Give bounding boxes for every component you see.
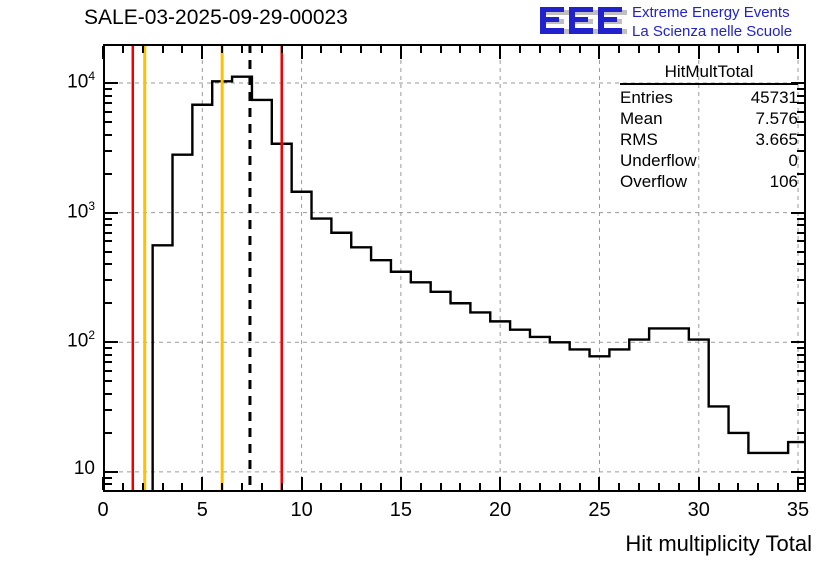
stats-rows: Entries45731Mean7.576RMS3.665Underflow0O… [616,87,802,192]
x-minor-tick [459,483,461,490]
y-major-tick [105,212,118,214]
x-minor-tick [777,483,779,490]
y-minor-tick-right [797,251,804,253]
page-title: SALE-03-2025-09-29-00023 [84,6,348,30]
x-minor-tick-top [737,46,739,53]
y-minor-tick [105,224,112,226]
x-minor-tick [559,483,561,490]
y-minor-tick-right [797,232,804,234]
x-axis-tick-label: 0 [73,499,133,522]
x-minor-tick [718,483,720,490]
y-minor-tick-right [797,432,804,434]
x-minor-tick-top [221,46,223,53]
y-minor-tick-right [797,380,804,382]
x-minor-tick [281,483,283,490]
logo-text: Extreme Energy Events La Scienza nelle S… [632,3,792,41]
x-minor-tick [440,483,442,490]
x-axis-tick-label: 35 [768,499,828,522]
x-minor-tick-top [181,46,183,53]
y-minor-tick [105,102,112,104]
y-minor-tick-right [797,361,804,363]
stats-key: RMS [620,129,658,150]
stats-row: Underflow0 [616,150,802,171]
y-minor-tick [105,150,112,152]
x-minor-tick [737,483,739,490]
x-minor-tick-top [559,46,561,53]
x-major-tick [698,477,700,490]
y-minor-tick-right [797,224,804,226]
y-axis-tick-label: 10 [33,458,95,480]
x-minor-tick-top [241,46,243,53]
x-minor-tick [678,483,680,490]
y-minor-tick [105,251,112,253]
x-minor-tick-top [618,46,620,53]
stats-row: RMS3.665 [616,129,802,150]
y-minor-tick [105,88,112,90]
y-major-tick-right [791,341,804,343]
x-minor-tick-top [261,46,263,53]
x-minor-tick-top [757,46,759,53]
x-major-tick [201,477,203,490]
x-minor-tick [420,483,422,490]
x-minor-tick [658,483,660,490]
x-major-tick [301,477,303,490]
y-major-tick [105,471,118,473]
x-minor-tick-top [360,46,362,53]
x-major-tick-top [797,46,799,59]
y-minor-tick [105,477,112,479]
y-minor-tick [105,354,112,356]
y-major-tick-right [791,471,804,473]
stats-value: 3.665 [755,129,798,150]
y-minor-tick-right [797,302,804,304]
x-minor-tick-top [281,46,283,53]
x-minor-tick-top [420,46,422,53]
x-minor-tick-top [380,46,382,53]
x-minor-tick [241,483,243,490]
histogram-canvas: SALE-03-2025-09-29-00023 [0,0,836,572]
x-major-tick [499,477,501,490]
logo-line-2: La Scienza nelle Scuole [632,22,792,41]
logo-line-1: Extreme Energy Events [632,3,792,22]
eee-logo: Extreme Energy Events La Scienza nelle S… [538,2,834,44]
x-minor-tick [519,483,521,490]
x-minor-tick-top [122,46,124,53]
y-major-tick [105,341,118,343]
y-major-tick [105,82,118,84]
x-major-tick-top [400,46,402,59]
y-minor-tick [105,232,112,234]
stats-box: HitMultTotal Entries45731Mean7.576RMS3.6… [616,62,802,192]
y-minor-tick [105,134,112,136]
x-major-tick [797,477,799,490]
x-axis-tick-label: 20 [470,499,530,522]
y-minor-tick [105,370,112,372]
x-minor-tick [360,483,362,490]
y-minor-tick [105,95,112,97]
stats-key: Underflow [620,150,697,171]
x-minor-tick [340,483,342,490]
x-minor-tick-top [142,46,144,53]
x-minor-tick-top [459,46,461,53]
stats-key: Overflow [620,171,687,192]
x-major-tick [102,477,104,490]
x-axis-tick-label: 30 [669,499,729,522]
y-minor-tick [105,380,112,382]
eee-mark-icon [538,4,628,40]
x-axis-tick-label: 25 [569,499,629,522]
x-major-tick-top [698,46,700,59]
x-axis-title: Hit multiplicity Total [625,531,812,557]
y-minor-tick [105,263,112,265]
y-minor-tick-right [797,279,804,281]
y-minor-tick-right [797,218,804,220]
x-minor-tick [181,483,183,490]
stats-key: Entries [620,87,673,108]
x-major-tick-top [201,46,203,59]
x-minor-tick-top [479,46,481,53]
y-minor-tick-right [797,393,804,395]
y-major-tick-right [791,212,804,214]
y-minor-tick [105,347,112,349]
x-minor-tick-top [658,46,660,53]
y-minor-tick [105,173,112,175]
y-axis-tick-label: 103 [33,199,95,223]
x-major-tick [400,477,402,490]
x-minor-tick [618,483,620,490]
stats-value: 7.576 [755,108,798,129]
stats-value: 0 [789,150,798,171]
x-minor-tick [261,483,263,490]
stats-row: Mean7.576 [616,108,802,129]
y-axis-tick-label: 102 [33,328,95,352]
y-minor-tick [105,240,112,242]
x-minor-tick-top [320,46,322,53]
x-minor-tick-top [777,46,779,53]
x-minor-tick-top [718,46,720,53]
x-major-tick-top [301,46,303,59]
x-major-tick [598,477,600,490]
y-minor-tick-right [797,347,804,349]
y-minor-tick [105,393,112,395]
stats-key: Mean [620,108,663,129]
y-minor-tick [105,409,112,411]
x-minor-tick [320,483,322,490]
x-minor-tick [162,483,164,490]
stats-value: 45731 [751,87,798,108]
y-minor-tick-right [797,263,804,265]
x-minor-tick-top [579,46,581,53]
x-minor-tick-top [519,46,521,53]
x-minor-tick-top [539,46,541,53]
x-major-tick-top [598,46,600,59]
stats-title: HitMultTotal [620,62,798,85]
x-minor-tick-top [440,46,442,53]
y-minor-tick [105,111,112,113]
x-minor-tick [757,483,759,490]
y-minor-tick-right [797,240,804,242]
stats-row: Overflow106 [616,171,802,192]
y-minor-tick [105,279,112,281]
stats-value: 106 [770,171,798,192]
y-axis-tick-label: 104 [33,69,95,93]
x-axis-tick-label: 5 [172,499,232,522]
x-axis-tick-label: 10 [272,499,332,522]
y-minor-tick-right [797,354,804,356]
x-major-tick-top [102,46,104,59]
x-major-tick-top [499,46,501,59]
x-minor-tick [579,483,581,490]
x-minor-tick [638,483,640,490]
x-minor-tick-top [340,46,342,53]
y-minor-tick [105,218,112,220]
stats-row: Entries45731 [616,87,802,108]
x-minor-tick [539,483,541,490]
y-minor-tick-right [797,409,804,411]
y-minor-tick-right [797,370,804,372]
x-minor-tick [479,483,481,490]
y-minor-tick [105,432,112,434]
x-minor-tick [380,483,382,490]
y-minor-tick [105,483,112,485]
x-minor-tick [221,483,223,490]
x-minor-tick [122,483,124,490]
y-minor-tick [105,361,112,363]
y-minor-tick [105,302,112,304]
x-minor-tick-top [678,46,680,53]
y-minor-tick [105,121,112,123]
x-minor-tick-top [638,46,640,53]
x-minor-tick-top [162,46,164,53]
x-axis-tick-label: 15 [371,499,431,522]
x-minor-tick [142,483,144,490]
